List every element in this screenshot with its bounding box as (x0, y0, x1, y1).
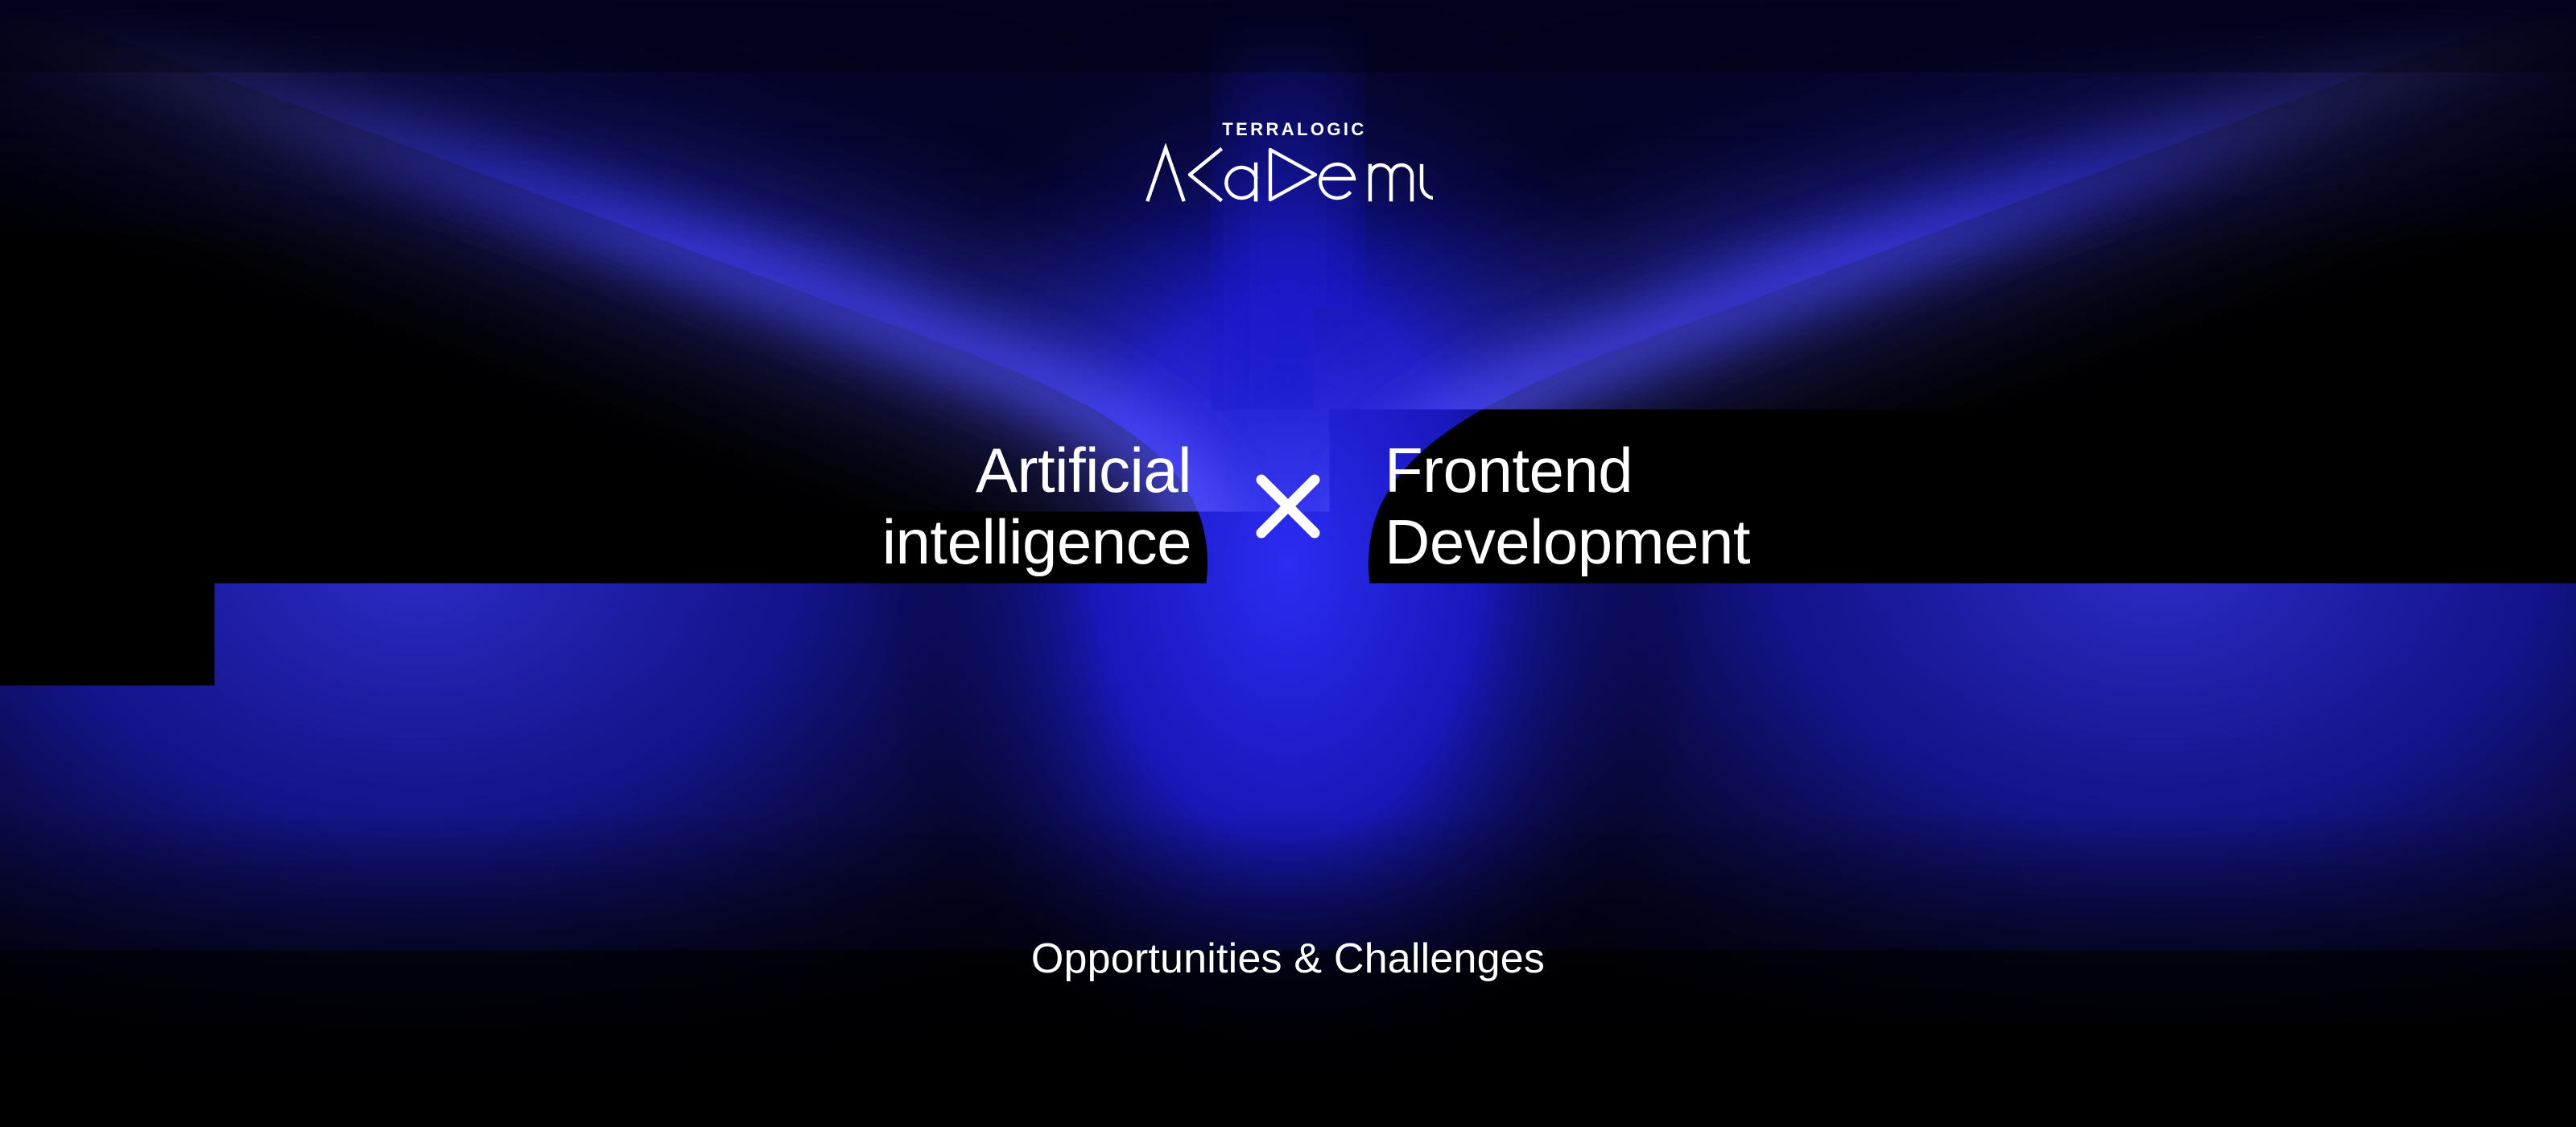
brand-logo: TERRALOGIC (0, 121, 2576, 204)
cross-icon (1240, 458, 1336, 555)
headline-row: Artificial intelligence Frontend Develop… (0, 435, 2576, 578)
brand-wordmark (1143, 140, 1433, 204)
wordmark-svg (1143, 140, 1433, 204)
slide-canvas: TERRALOGIC (0, 0, 2576, 1127)
headline-left: Artificial intelligence (531, 435, 1240, 578)
content-overlay: TERRALOGIC (0, 0, 2576, 1127)
headline-right: Frontend Development (1336, 435, 2045, 578)
brand-kicker: TERRALOGIC (1222, 121, 1366, 138)
subtitle: Opportunities & Challenges (0, 938, 2576, 980)
